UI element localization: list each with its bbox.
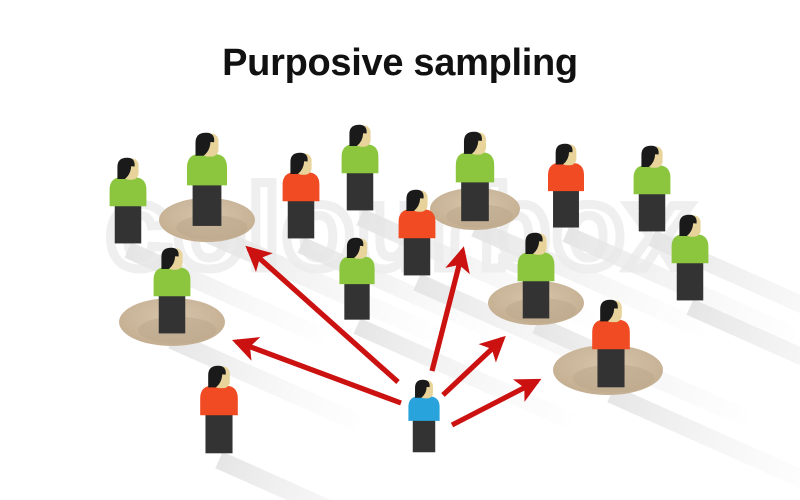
figure-7 [634,146,671,232]
figure-12-torso [672,234,709,263]
figure-8-legs [159,295,185,333]
figure-11-torso [518,252,555,281]
figure-5 [456,132,494,221]
figure-9-torso [339,256,374,284]
figure-5-legs [461,181,489,221]
illustration-canvas: colourbox Purposive sampling [0,0,800,500]
purposive-sampling-diagram: colourbox [0,0,800,500]
figure-4 [342,125,379,211]
figure-2-legs [193,184,222,226]
figure-13 [200,366,238,454]
figure-15-legs [413,420,435,452]
figure-3-torso [283,172,320,201]
figure-13-legs [205,414,232,453]
band-13 [215,452,419,500]
figure-2 [187,133,227,226]
figure-1-torso [110,177,147,206]
figure-13-torso [200,386,238,416]
figure-14-legs [597,348,624,387]
figure-10-torso [399,209,436,238]
figure-3-legs [288,200,314,238]
figure-4-legs [347,172,373,210]
figure-9-legs [344,283,369,320]
figure-11-legs [523,280,549,318]
figure-15 [408,380,439,452]
figure-10-legs [404,237,430,275]
figure-7-torso [634,165,671,194]
figure-15-torso [408,396,439,421]
figure-6-legs [553,190,579,227]
figure-4-torso [342,144,379,173]
band-8 [168,332,363,432]
figure-14 [592,300,630,388]
figure-7-legs [639,193,665,231]
figure-14-torso [592,320,630,350]
figure-8-torso [154,267,191,296]
figure-12-legs [677,262,703,300]
figure-6 [548,144,584,228]
figure-5-torso [456,152,494,182]
figure-6-torso [548,163,584,191]
figure-2-torso [187,154,227,186]
figure-1-legs [115,205,141,243]
